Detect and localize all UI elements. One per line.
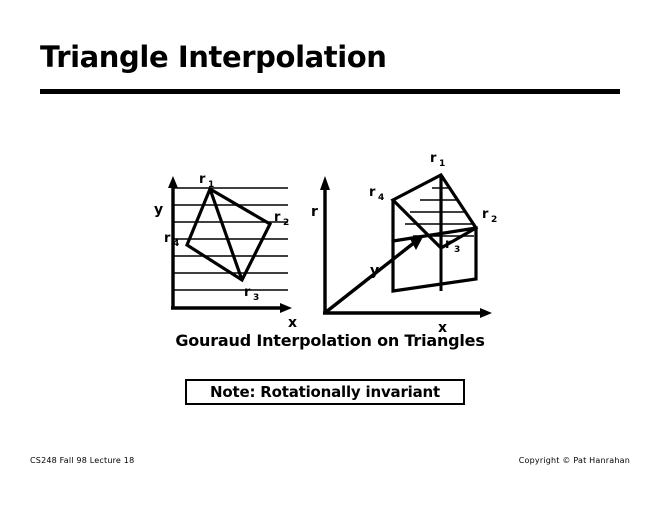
vertex-label-r2: r	[274, 210, 281, 225]
figure-caption: Gouraud Interpolation on Triangles	[0, 331, 660, 350]
x-axis-arrowhead	[480, 308, 492, 318]
vertex-label-r2: r	[482, 207, 489, 222]
slide-canvas: Triangle Interpolation	[0, 0, 660, 510]
vertex-label-r1: r	[430, 151, 437, 166]
x-axis-arrowhead	[280, 303, 292, 313]
y-axis-label: y	[370, 263, 379, 279]
vertex-label-r4: r	[369, 185, 376, 200]
y-axis-arrowhead	[168, 176, 178, 188]
vertex-label-r4-sub: 4	[173, 239, 179, 249]
vertex-label-r2-sub: 2	[283, 218, 289, 228]
r-axis-label: r	[311, 204, 318, 220]
note-text: Note: Rotationally invariant	[210, 383, 440, 401]
quad-outline-group	[187, 189, 270, 280]
quadrilateral-outline	[187, 189, 270, 280]
y-axis-arrowhead	[409, 235, 424, 250]
figure-2d-svg: y x r 1 r 2 r 3 r 4	[140, 158, 320, 333]
vertex-label-r1: r	[199, 172, 206, 187]
vertex-label-r1-sub: 1	[208, 180, 214, 190]
axes-3d-group	[320, 176, 492, 318]
vertex-label-r4: r	[164, 231, 171, 246]
figure-3d-triangle-interpolation: r y x r 1 r 2 r 3 r 4	[310, 138, 510, 337]
footer-course-info: CS248 Fall 98 Lecture 18	[30, 456, 134, 465]
title-divider	[40, 89, 620, 94]
base-quad-group	[393, 228, 476, 291]
note-box: Note: Rotationally invariant	[185, 379, 465, 405]
r-axis-arrowhead	[320, 176, 330, 190]
base-quadrilateral	[393, 228, 476, 291]
figure-2d-triangle-interpolation: y x r 1 r 2 r 3 r 4	[140, 158, 320, 337]
diagonal-edge	[210, 189, 242, 280]
y-axis-label: y	[154, 202, 163, 218]
vertex-label-r4-sub: 4	[378, 193, 384, 203]
vertex-label-r3: r	[445, 237, 452, 252]
vertex-label-r1-sub: 1	[439, 159, 445, 169]
footer-copyright: Copyright © Pat Hanrahan	[519, 456, 630, 465]
vertex-label-r3-sub: 3	[454, 245, 460, 255]
figure-3d-svg: r y x r 1 r 2 r 3 r 4	[310, 138, 510, 333]
vertex-label-r2-sub: 2	[491, 215, 497, 225]
vertex-label-r3-sub: 3	[253, 293, 259, 303]
x-axis-label: x	[288, 315, 297, 331]
page-title: Triangle Interpolation	[40, 40, 387, 74]
vertex-label-r3: r	[244, 285, 251, 300]
